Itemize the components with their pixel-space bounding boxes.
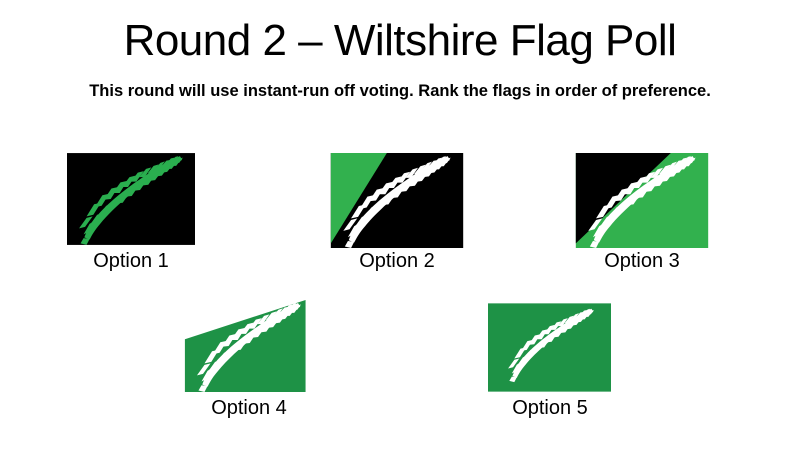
flag-option-4[interactable]: [175, 300, 323, 392]
flag-5-field: [488, 303, 611, 391]
flag-caption-option-3: Option 3: [542, 250, 742, 273]
flag-option-2[interactable]: [312, 153, 482, 248]
page-title: Round 2 – Wiltshire Flag Poll: [0, 16, 800, 66]
flag-option-3[interactable]: [557, 153, 727, 248]
flag-caption-option-2: Option 2: [297, 250, 497, 273]
flag-caption-option-5: Option 5: [450, 397, 650, 420]
page-subtitle: This round will use instant-run off voti…: [0, 82, 800, 101]
flag-caption-option-1: Option 1: [31, 250, 231, 273]
flag-option-5[interactable]: [488, 303, 611, 392]
slide-canvas: Round 2 – Wiltshire Flag Poll This round…: [0, 0, 800, 450]
flag-option-1[interactable]: [67, 153, 195, 245]
flag-caption-option-4: Option 4: [149, 397, 349, 420]
